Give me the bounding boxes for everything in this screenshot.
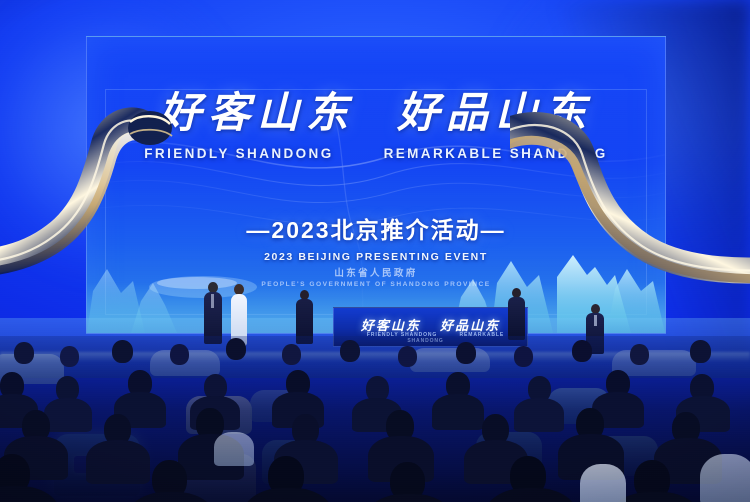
audience-white-shirt	[580, 464, 626, 502]
headline-cn-right: 好品山东	[397, 93, 593, 135]
headline-en-right: REMARKABLE SHANDONG	[384, 146, 608, 161]
audience-white-shirt	[214, 432, 254, 466]
led-screen: 好客山东 好品山东 FRIENDLY SHANDONG REMARKABLE S…	[86, 36, 666, 334]
audience-head	[340, 340, 360, 362]
audience-head	[282, 344, 301, 365]
podium-cn-left: 好客山东	[361, 318, 421, 333]
screen-headline: 好客山东 好品山东 FRIENDLY SHANDONG REMARKABLE S…	[87, 93, 665, 161]
event-title-cn: —2023北京推介活动—	[87, 211, 665, 245]
stage-person-guest-center	[508, 288, 525, 340]
event-photo-scene: 好客山东 好品山东 FRIENDLY SHANDONG REMARKABLE S…	[0, 0, 750, 502]
stage-person-host-male	[203, 282, 223, 344]
audience-head	[226, 338, 246, 360]
podium-cn-right: 好品山东	[440, 318, 500, 333]
audience-head	[630, 344, 649, 365]
audience-white-shirt	[700, 454, 750, 502]
audience-shoulders	[514, 398, 564, 432]
headline-cn-left: 好客山东	[159, 93, 355, 135]
audience-head	[112, 340, 133, 363]
audience-head	[572, 340, 592, 362]
audience-head	[690, 340, 711, 363]
audience-head	[14, 342, 34, 364]
headline-en-left: FRIENDLY SHANDONG	[144, 146, 333, 161]
audience-head	[456, 342, 476, 364]
audience-area	[0, 336, 750, 502]
audience-shoulders	[86, 440, 150, 484]
audience-head	[60, 346, 79, 367]
audience-head	[170, 344, 189, 365]
audience-shoulders	[432, 394, 484, 430]
audience-head	[514, 346, 533, 367]
audience-head	[398, 346, 417, 367]
audience-shoulders	[44, 398, 92, 432]
